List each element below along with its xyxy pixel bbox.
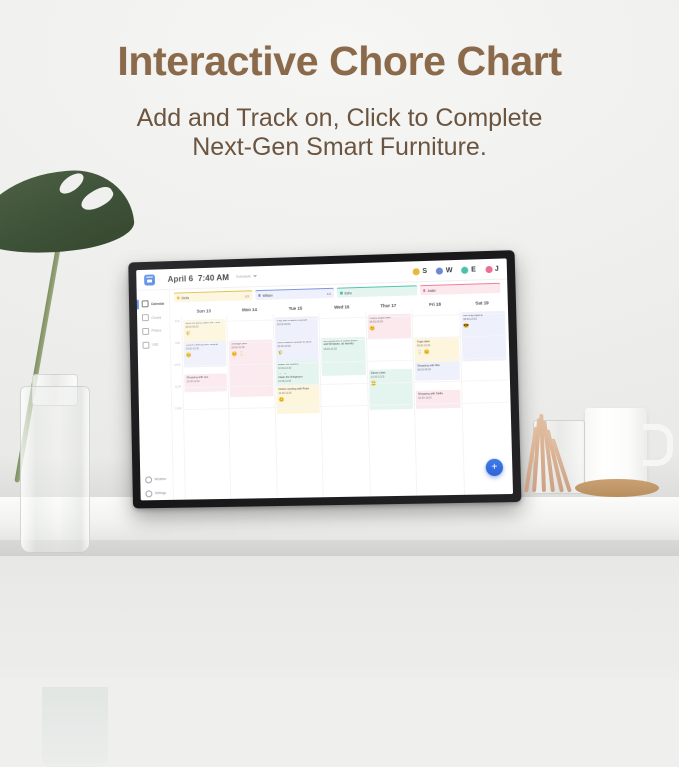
add-icon: + xyxy=(491,462,497,472)
checklist-icon xyxy=(142,314,149,321)
app-body: CalendarChoresPhotosListsWeatherSettings… xyxy=(137,280,513,501)
device-screen[interactable]: April 6 7:40 AM Schedule SWEJ CalendarCh… xyxy=(136,258,513,500)
mug-handle xyxy=(643,424,673,466)
event-emoji: 😊 xyxy=(370,324,409,330)
sidebar-item-label: Settings xyxy=(155,491,166,495)
event-emoji: 😎 xyxy=(463,322,503,328)
time-label: 12:00 xyxy=(175,407,181,410)
member-chip-name: Echo xyxy=(344,291,351,295)
time-label: 9:00 xyxy=(175,342,180,345)
avatar[interactable]: E xyxy=(461,266,476,273)
sidebar-item-settings[interactable]: Settings xyxy=(140,486,173,500)
event-emoji: 😊 xyxy=(186,351,224,357)
sidebar-item-label: Calendar xyxy=(151,302,164,306)
calendar-icon xyxy=(142,301,149,308)
time-label: 11:00 xyxy=(175,385,181,388)
calendar-event[interactable]: Online meeting with Rosa11:00-12:00😊 xyxy=(276,385,320,414)
member-chip[interactable]: William1/2 xyxy=(255,288,334,300)
table-front xyxy=(0,556,679,679)
page-subtitle: Add and Track on, Click to Complete Next… xyxy=(0,104,679,162)
member-chip-dot xyxy=(423,289,426,292)
sidebar-spacer xyxy=(138,351,173,473)
event-emoji: 🌾 xyxy=(185,330,223,336)
day-header[interactable]: Mon 14 xyxy=(227,306,273,312)
member-chip-dot xyxy=(177,297,180,300)
current-date: April 6 xyxy=(168,274,194,284)
avatar-dot xyxy=(461,266,468,273)
avatar-initial: S xyxy=(422,267,427,274)
event-time: 10:30-11:00 xyxy=(187,380,225,384)
member-chip[interactable]: Echo xyxy=(337,285,417,297)
vase-water xyxy=(42,687,108,767)
sidebar-item-label: Weather xyxy=(154,477,166,481)
calendar-event[interactable]: Shopping with Mia08:00-09:00 xyxy=(415,362,459,381)
list-icon xyxy=(142,341,149,348)
avatar-initial: W xyxy=(446,267,453,274)
event-emoji: 😊 🥛 xyxy=(232,350,271,356)
event-title: Do housemen's Great Room and Windows, do… xyxy=(323,339,362,347)
member-chip-name: Justin xyxy=(427,288,436,292)
product-scene: Interactive Chore Chart Add and Track on… xyxy=(0,0,679,679)
day-header[interactable]: Fri 18 xyxy=(412,301,459,307)
calendar-panel: Stella1/2William1/2EchoJustin Sun 13Mon … xyxy=(170,280,513,500)
avatar[interactable]: S xyxy=(413,267,427,274)
event-emoji: 😊 xyxy=(279,396,318,402)
member-chip-count: 1/2 xyxy=(327,291,331,295)
smart-display-device: April 6 7:40 AM Schedule SWEJ CalendarCh… xyxy=(128,250,521,508)
page-title: Interactive Chore Chart xyxy=(0,38,679,85)
sidebar-item-calendar[interactable]: Calendar xyxy=(137,297,169,312)
sidebar-item-chores[interactable]: Chores xyxy=(137,310,169,325)
day-header[interactable]: Sat 19 xyxy=(458,299,505,305)
view-selector-label: Schedule xyxy=(236,274,251,278)
member-chip[interactable]: Justin xyxy=(420,283,501,295)
member-chip-name: Stella xyxy=(181,296,189,300)
avatar-initial: J xyxy=(495,265,499,272)
calendar-event[interactable]: Shopping with Stella10:30-11:00 xyxy=(416,390,460,409)
calendar-event[interactable]: Do housemen's Great Room and Windows, do… xyxy=(321,337,365,376)
event-time: 10:30-11:00 xyxy=(418,396,458,400)
day-columns: Mow the yard, wash the TV-R08:00-09:00🌾O… xyxy=(181,308,511,500)
cork-coaster xyxy=(575,479,659,497)
day-header[interactable]: Wed 16 xyxy=(318,303,365,309)
photo-icon xyxy=(142,328,149,335)
view-selector[interactable]: Schedule xyxy=(236,274,257,279)
time-label: 8:00 xyxy=(175,320,180,323)
calendar-event[interactable]: Manage yard09:00-11:30😊 🥛 xyxy=(229,339,273,397)
subtitle-line-1: Add and Track on, Click to Complete xyxy=(0,104,679,133)
sidebar-item-label: Chores xyxy=(151,315,161,319)
event-emoji: 🌾 xyxy=(278,349,317,355)
sidebar-item-photos[interactable]: Photos xyxy=(137,324,169,338)
member-chip-count: 1/2 xyxy=(245,294,249,298)
event-time: 08:00-09:00 xyxy=(417,368,457,372)
avatar-dot xyxy=(436,267,443,274)
member-avatars: SWEJ xyxy=(413,265,499,275)
calendar-grid[interactable]: 8:009:0010:0011:0012:00 Mow the yard, wa… xyxy=(170,308,513,500)
day-header[interactable]: Thur 17 xyxy=(365,302,412,308)
sidebar-item-label: Photos xyxy=(152,329,162,333)
weather-icon xyxy=(145,476,152,483)
member-chip-name: William xyxy=(262,293,272,297)
sidebar-item-label: Lists xyxy=(152,343,158,347)
monstera-leaf xyxy=(0,165,136,258)
member-chip-dot xyxy=(340,292,343,295)
calendar-event[interactable]: Poppy yoga class08:00-09:00😊 xyxy=(367,314,411,339)
day-header[interactable]: Sun 13 xyxy=(181,307,227,313)
calendar-event[interactable]: Morning jogging08:00-10:00😎 xyxy=(461,311,507,362)
calendar-event[interactable]: Shopping with Leo10:30-11:00 xyxy=(184,373,227,392)
gear-icon xyxy=(145,490,152,497)
event-time: 09:00-09:00 xyxy=(277,323,316,327)
sidebar-item-lists[interactable]: Lists xyxy=(138,338,171,352)
avatar[interactable]: J xyxy=(485,265,499,272)
chevron-down-icon xyxy=(253,275,257,277)
event-time: 09:00-11:00 xyxy=(324,347,363,351)
monstera-plant xyxy=(0,168,150,498)
app-sidebar: CalendarChoresPhotosListsWeatherSettings xyxy=(137,290,174,501)
coffee-mug xyxy=(585,408,647,486)
subtitle-line-2: Next-Gen Smart Furniture. xyxy=(0,133,679,162)
sidebar-item-weather[interactable]: Weather xyxy=(140,472,173,486)
glass-vase xyxy=(20,386,90,553)
calendar-app: April 6 7:40 AM Schedule SWEJ CalendarCh… xyxy=(136,258,513,500)
time-label: 10:00 xyxy=(174,364,180,367)
calendar-icon xyxy=(144,274,155,285)
avatar-initial: E xyxy=(471,266,476,273)
member-chip[interactable]: Stella1/2 xyxy=(174,290,252,302)
avatar[interactable]: W xyxy=(436,267,452,275)
day-header[interactable]: Tue 15 xyxy=(272,305,318,311)
current-date-time: April 6 7:40 AM xyxy=(168,273,230,284)
current-time: 7:40 AM xyxy=(198,273,229,283)
event-emoji: 🥛 😊 xyxy=(417,348,457,354)
member-chip-dot xyxy=(258,294,261,297)
avatar-dot xyxy=(485,265,492,272)
avatar-dot xyxy=(413,268,420,275)
